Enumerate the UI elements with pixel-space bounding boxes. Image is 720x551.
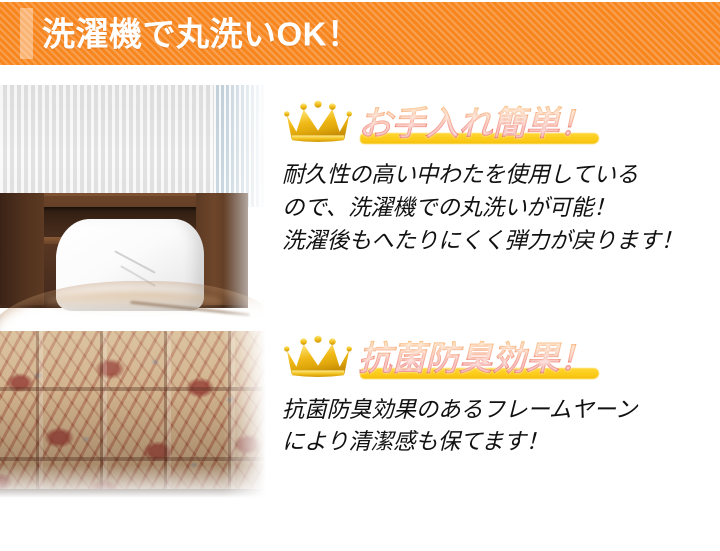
- crown-icon: [282, 332, 354, 380]
- feature-1-heading-row: お手入れ簡単！: [282, 85, 710, 145]
- header-banner: 洗濯機で丸洗いOK！: [0, 2, 720, 65]
- feature-1-body: 耐久性の高い中わたを使用している ので、洗濯機での丸洗いが可能！ 洗濯後もへたり…: [282, 159, 710, 258]
- photo-quilt-shading: [0, 331, 266, 498]
- feature-1-heading-wrap: お手入れ簡単！: [358, 107, 593, 145]
- photo-window-blind: [214, 85, 266, 207]
- photo-bed-base: [0, 489, 266, 498]
- feature-1-body-line-1: 耐久性の高い中わたを使用している: [282, 159, 710, 192]
- header-title: 洗濯機で丸洗いOK！: [42, 17, 361, 50]
- feature-2-body: 抗菌防臭効果のあるフレームヤーン により清潔感も保てます！: [282, 394, 710, 460]
- feature-1-heading: お手入れ簡単！: [358, 105, 593, 143]
- crown-icon: [282, 97, 354, 145]
- advertisement-page: 洗濯機で丸洗いOK！: [0, 0, 720, 551]
- feature-2-body-line-2: により清潔感も保てます！: [282, 426, 710, 459]
- feature-2-body-line-1: 抗菌防臭効果のあるフレームヤーン: [282, 394, 710, 427]
- feature-2-heading-row: 抗菌防臭効果！: [282, 320, 710, 380]
- product-photo: [0, 85, 266, 498]
- product-photo-inner: [0, 85, 266, 498]
- feature-2-heading: 抗菌防臭効果！: [358, 340, 593, 378]
- feature-1-body-line-3: 洗濯後もへたりにくく弾力が戻ります！: [282, 225, 710, 258]
- header-accent-bar: [20, 8, 33, 59]
- feature-block-2: 抗菌防臭効果！ 抗菌防臭効果のあるフレームヤーン により清潔感も保てます！: [282, 320, 710, 460]
- features-column: お手入れ簡単！ 耐久性の高い中わたを使用している ので、洗濯機での丸洗いが可能！…: [282, 85, 710, 459]
- feature-2-heading-wrap: 抗菌防臭効果！: [358, 342, 593, 380]
- feature-1-body-line-2: ので、洗濯機での丸洗いが可能！: [282, 192, 710, 225]
- photo-headboard-left-post: [0, 193, 44, 305]
- feature-block-1: お手入れ簡単！ 耐久性の高い中わたを使用している ので、洗濯機での丸洗いが可能！…: [282, 85, 710, 258]
